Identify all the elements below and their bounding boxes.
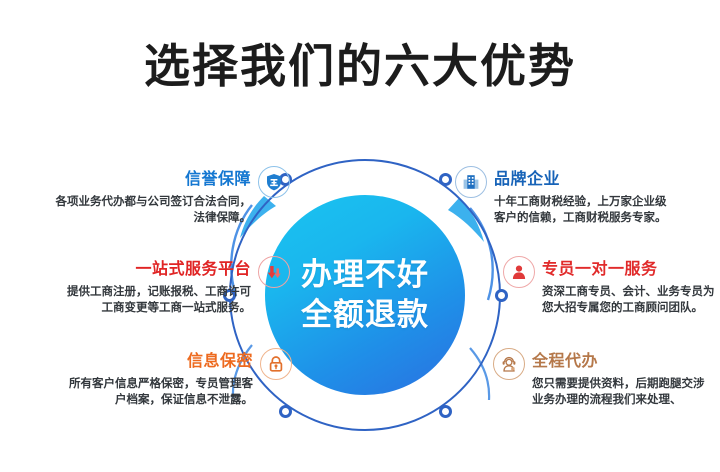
- feature-item-credit-guarantee[interactable]: 信誉保障 各项业务代办都与公司签订合法合同， 法律保障。: [40, 168, 290, 225]
- feature-body: 信誉保障 各项业务代办都与公司签订合法合同， 法律保障。: [56, 168, 252, 225]
- feature-description: 资深工商专员、会计、业务专员为 您大招专属您的工商顾问团队。: [542, 283, 715, 315]
- feature-item-full-process-agency[interactable]: 全程代办 您只需要提供资料，后期跑腿交涉 业务办理的流程我们来处理、: [493, 350, 718, 407]
- feature-body: 品牌企业 十年工商财税经验，上万家企业级 客户的信赖，工商财税服务专家。: [494, 168, 667, 225]
- feature-description: 十年工商财税经验，上万家企业级 客户的信赖，工商财税服务专家。: [494, 193, 667, 225]
- ring-node-top-right: [439, 173, 452, 186]
- feature-title: 全程代办: [532, 350, 705, 372]
- double-down-arrow-icon: [258, 256, 290, 288]
- feature-description: 所有客户信息严格保密，专员管理客 户档案，保证信息不泄露。: [69, 375, 253, 407]
- feature-item-brand-enterprise[interactable]: 品牌企业 十年工商财税经验，上万家企业级 客户的信赖，工商财税服务专家。: [455, 168, 705, 225]
- feature-body: 信息保密 所有客户信息严格保密，专员管理客 户档案，保证信息不泄露。: [69, 350, 253, 407]
- person-icon: [503, 256, 535, 288]
- feature-item-one-stop-service[interactable]: 一站式服务平台 提供工商注册，记账报税、工商许可 工商变更等工商一站式服务。: [18, 258, 290, 315]
- feature-item-one-on-one-service[interactable]: 专员一对一服务 资深工商专员、会计、业务专员为 您大招专属您的工商顾问团队。: [503, 258, 718, 315]
- ring-node-bottom-right: [439, 405, 452, 418]
- building-icon: [455, 166, 487, 198]
- page-title: 选择我们的六大优势: [0, 38, 720, 94]
- shield-zheng-icon: [258, 166, 290, 198]
- service-agent-icon: [493, 348, 525, 380]
- feature-item-information-confidentiality[interactable]: 信息保密 所有客户信息严格保密，专员管理客 户档案，保证信息不泄露。: [30, 350, 292, 407]
- feature-title: 信息保密: [69, 350, 253, 372]
- feature-description: 提供工商注册，记账报税、工商许可 工商变更等工商一站式服务。: [67, 283, 251, 315]
- feature-title: 一站式服务平台: [67, 258, 251, 280]
- feature-description: 您只需要提供资料，后期跑腿交涉 业务办理的流程我们来处理、: [532, 375, 705, 407]
- hub-headline-line-2: 全额退款: [301, 295, 429, 335]
- feature-body: 一站式服务平台 提供工商注册，记账报税、工商许可 工商变更等工商一站式服务。: [67, 258, 251, 315]
- lock-icon: [260, 348, 292, 380]
- feature-body: 全程代办 您只需要提供资料，后期跑腿交涉 业务办理的流程我们来处理、: [532, 350, 705, 407]
- hub-core-circle: 办理不好 全额退款: [265, 195, 465, 395]
- advantages-poster: 选择我们的六大优势 办理不好 全额退款: [0, 0, 720, 472]
- feature-title: 专员一对一服务: [542, 258, 715, 280]
- feature-title: 信誉保障: [56, 168, 252, 190]
- feature-description: 各项业务代办都与公司签订合法合同， 法律保障。: [56, 193, 252, 225]
- feature-title: 品牌企业: [494, 168, 667, 190]
- hub-headline-line-1: 办理不好: [301, 255, 429, 295]
- feature-body: 专员一对一服务 资深工商专员、会计、业务专员为 您大招专属您的工商顾问团队。: [542, 258, 715, 315]
